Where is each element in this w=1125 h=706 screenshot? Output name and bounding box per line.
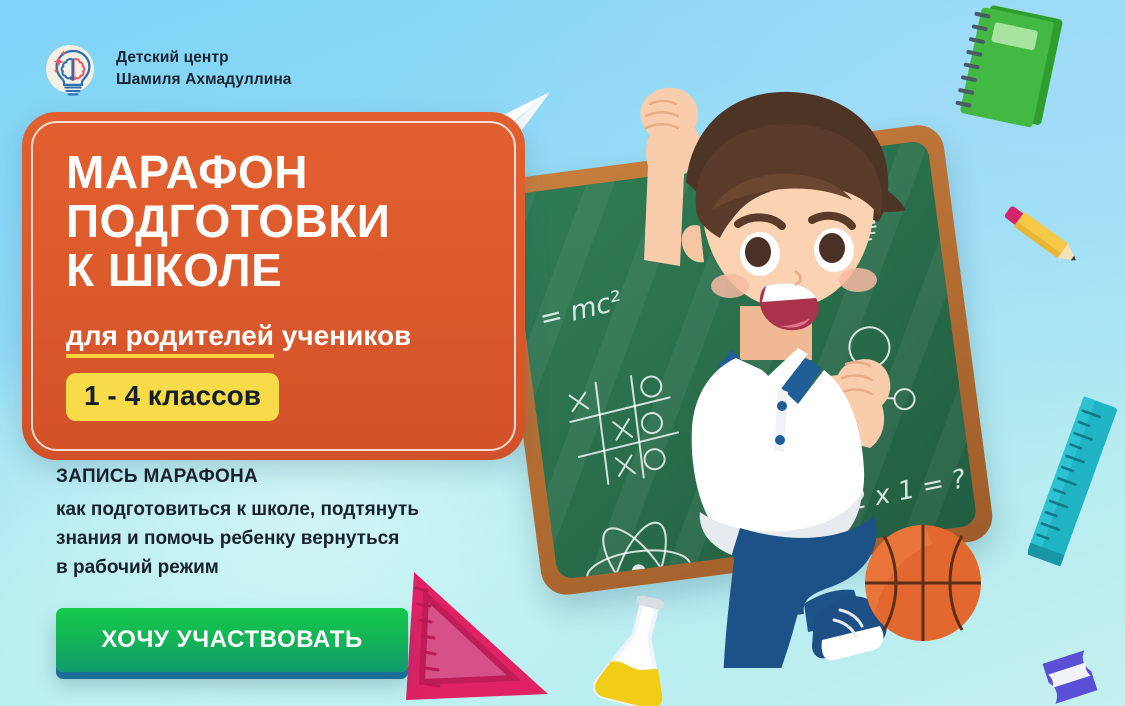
description-line-1: как подготовиться к школе, подтянуть — [56, 496, 496, 525]
basketball-prop — [862, 522, 984, 644]
brand-line-2: Шамиля Ахмадуллина — [116, 69, 292, 91]
promo-banner: МАРАФОН ПОДГОТОВКИ К ШКОЛЕ для родителей… — [22, 112, 525, 460]
participate-button[interactable]: ХОЧУ УЧАСТВОВАТЬ — [56, 608, 408, 672]
promo-hero: Детский центр Шамиля Ахмадуллина = mc² 2… — [0, 0, 1125, 706]
cta-container: ХОЧУ УЧАСТВОВАТЬ — [56, 608, 408, 672]
notebook-prop — [950, 4, 1070, 132]
brand-name: Детский центр Шамиля Ахмадуллина — [116, 47, 292, 91]
brand-line-1: Детский центр — [116, 47, 292, 69]
headline-line-1: МАРАФОН — [66, 148, 495, 197]
grades-badge: 1 - 4 классов — [66, 373, 279, 421]
triangle-ruler-prop — [396, 566, 572, 706]
eraser-prop — [1036, 650, 1104, 704]
headline-line-2: ПОДГОТОВКИ — [66, 197, 495, 246]
audience-highlight: для родителей — [66, 320, 274, 358]
page-title: МАРАФОН ПОДГОТОВКИ К ШКОЛЕ — [66, 148, 495, 296]
audience-subtitle: для родителей учеников — [66, 320, 495, 352]
brain-lightbulb-icon — [42, 38, 104, 100]
description-kicker: ЗАПИСЬ МАРАФОНА — [56, 466, 496, 488]
brand-logo[interactable]: Детский центр Шамиля Ахмадуллина — [42, 38, 292, 100]
audience-rest: учеников — [282, 320, 412, 351]
description-block: ЗАПИСЬ МАРАФОНА как подготовиться к школ… — [56, 466, 496, 583]
headline-line-3: К ШКОЛЕ — [66, 246, 495, 295]
pencil-prop — [990, 192, 1090, 284]
description-line-3: в рабочий режим — [56, 554, 496, 583]
description-line-2: знания и помочь ребенку вернуться — [56, 525, 496, 554]
ruler-prop — [1028, 392, 1120, 572]
flask-prop — [592, 596, 684, 706]
